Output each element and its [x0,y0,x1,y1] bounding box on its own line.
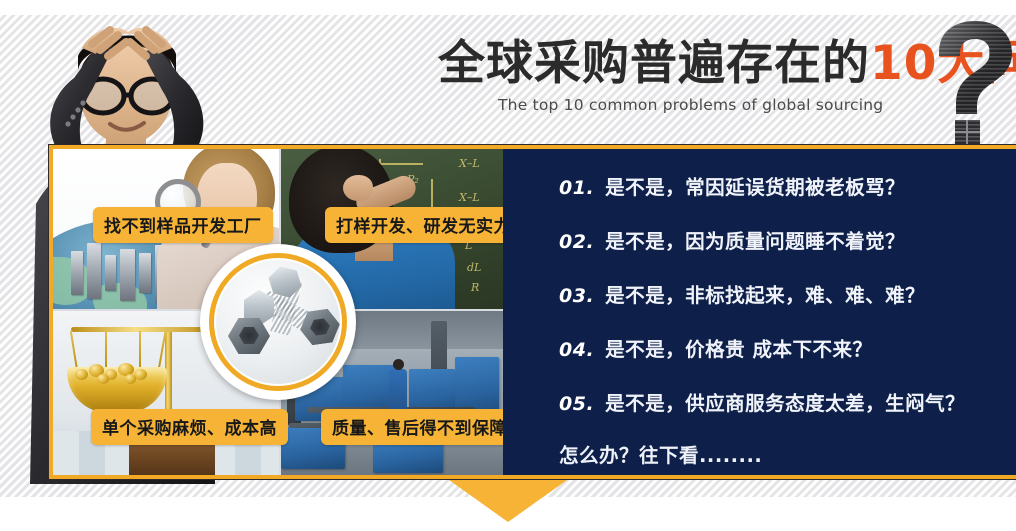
problem-text-5: 是不是，供应商服务态度太差，生闷气？ [605,392,965,415]
problem-item-4: 04.是不是，价格贵 成本下不来？ [559,333,872,362]
caption-chip-top-left: 找不到样品开发工厂 [93,207,273,243]
problem-number-2: 02. [559,231,594,253]
image-collage: X–L X–L R L dL R F₁ P₂ ½·t [53,149,503,475]
poster-stage: 全球采购普遍存在的10大问题 The top 10 common problem… [0,0,1016,531]
problem-number-3: 03. [559,285,594,307]
header: 全球采购普遍存在的10大问题 The top 10 common problem… [430,38,1016,146]
problem-text-1: 是不是，常因延误货期被老板骂？ [605,176,905,199]
problem-item-1: 01.是不是，常因延误货期被老板骂？ [559,171,905,200]
problem-list-panel: 01.是不是，常因延误货期被老板骂？ 02.是不是，因为质量问题睡不着觉？ 03… [505,149,1016,475]
problem-text-4: 是不是，价格贵 成本下不来？ [605,338,872,361]
bolts-medallion [200,244,356,400]
down-chevron-icon [449,480,567,522]
problem-number-5: 05. [559,393,594,415]
caption-chip-top-right: 打样开发、研发无实力 [325,207,503,243]
caption-chip-bottom-right: 质量、售后得不到保障 [321,409,503,445]
problem-item-2: 02.是不是，因为质量问题睡不着觉？ [559,225,905,254]
page-title-main: 全球采购普遍存在的 [438,36,870,91]
problem-number-4: 04. [559,339,594,361]
problem-text-2: 是不是，因为质量问题睡不着觉？ [605,230,905,253]
main-content-frame: X–L X–L R L dL R F₁ P₂ ½·t [48,144,1016,480]
closing-text: 怎么办？往下看........ [559,439,762,468]
problem-text-3: 是不是，非标找起来，难、难、难？ [605,284,925,307]
problem-number-1: 01. [559,177,594,199]
question-mark-icon [927,20,1016,145]
caption-chip-bottom-left: 单个采购麻烦、成本高 [91,409,288,445]
problem-item-5: 05.是不是，供应商服务态度太差，生闷气？ [559,387,965,416]
page-subtitle: The top 10 common problems of global sou… [498,96,883,114]
problem-item-3: 03.是不是，非标找起来，难、难、难？ [559,279,925,308]
